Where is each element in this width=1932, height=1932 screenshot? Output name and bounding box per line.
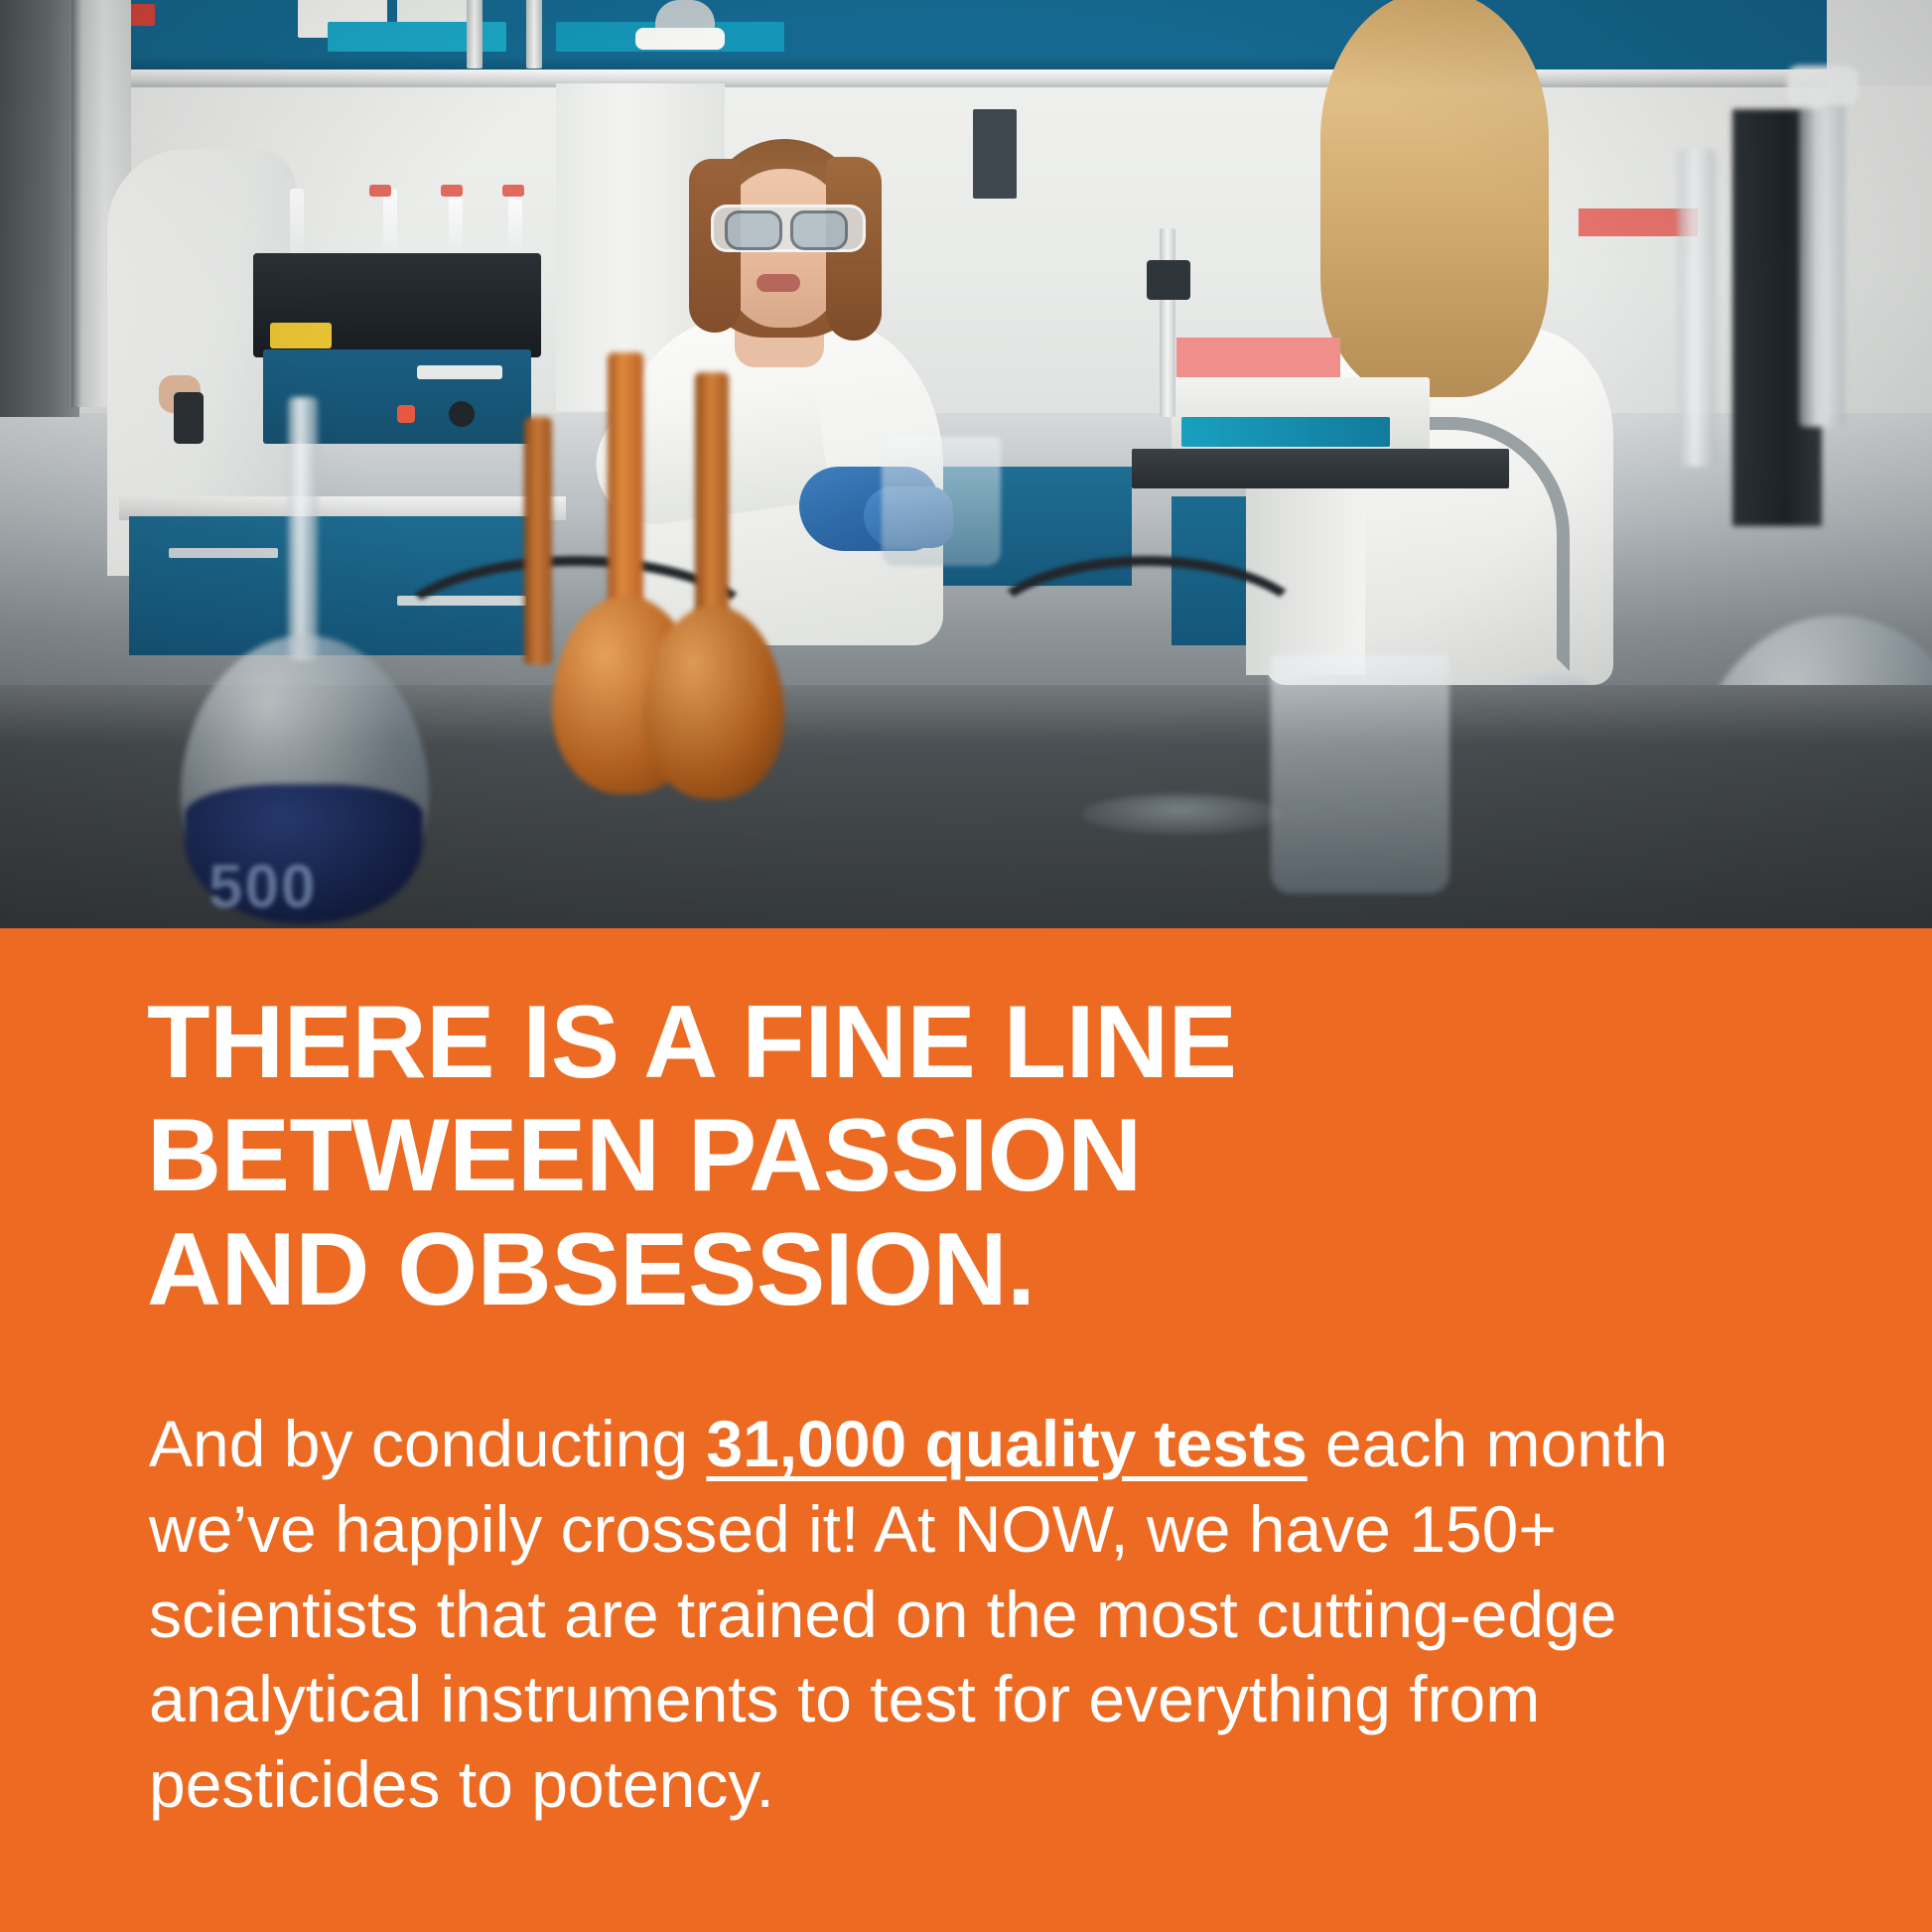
stat-highlight-quality-tests: 31,000 quality tests [706,1407,1307,1480]
lab-photo: 500 [0,0,1932,928]
photo-vignette [0,0,1932,928]
page-title: THERE IS A FINE LINE BETWEEN PASSION AND… [147,986,1835,1326]
poster-root: 500 THERE IS A FINE LINE BETWEEN PASSION… [0,0,1932,1932]
body-text-before: And by conducting [149,1407,706,1480]
orange-content-panel: THERE IS A FINE LINE BETWEEN PASSION AND… [0,928,1932,1932]
body-paragraph: And by conducting 31,000 quality tests e… [149,1402,1777,1828]
